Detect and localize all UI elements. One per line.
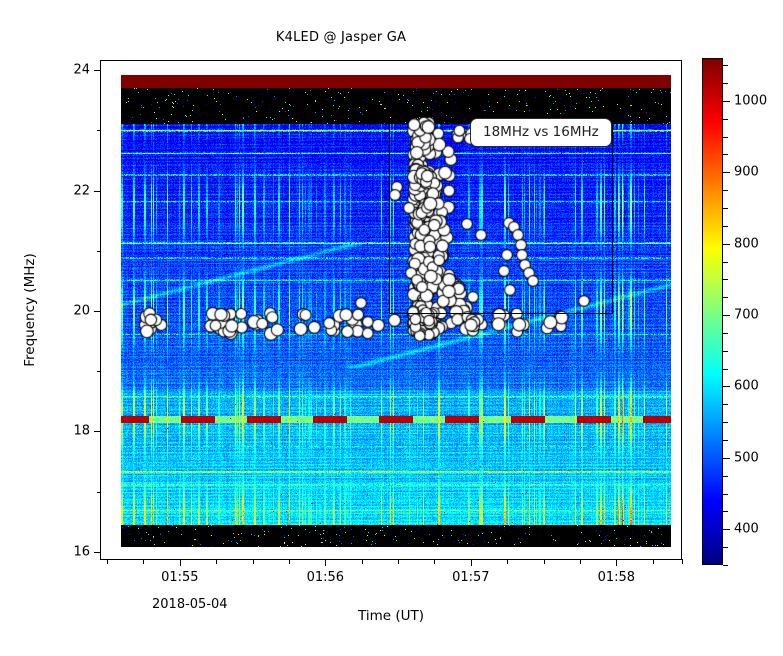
colorbar-tick-minor [723, 190, 728, 191]
colorbar-tick-minor [723, 279, 728, 280]
y-tick-20 [94, 311, 101, 312]
annotation-label: 18MHz vs 16MHz [470, 118, 612, 147]
y-tick-minor [97, 492, 102, 493]
colorbar-tick-500 [723, 458, 730, 459]
colorbar-tick-minor [723, 369, 728, 370]
colorbar-tick-minor [723, 547, 728, 548]
colorbar-tick-900 [723, 172, 730, 173]
colorbar-tick-label-500: 500 [734, 450, 759, 465]
x-tick-label-01:57: 01:57 [452, 570, 489, 585]
colorbar: 1000900800700600500400 [702, 58, 723, 565]
x-tick-minor [289, 559, 290, 564]
spectrogram-figure: K4LED @ Jasper GA 18MHz vs 16MHz 2422201… [0, 0, 783, 656]
y-tick-minor [97, 251, 102, 252]
x-tick-minor [362, 559, 363, 564]
x-tick-minor [253, 559, 254, 564]
y-tick-22 [94, 191, 101, 192]
colorbar-tick-minor [723, 351, 728, 352]
colorbar-tick-minor [723, 297, 728, 298]
colorbar-tick-minor [723, 511, 728, 512]
x-tick-01:57 [471, 559, 472, 566]
colorbar-gradient [702, 58, 723, 565]
x-tick-minor [216, 559, 217, 564]
x-tick-minor [653, 559, 654, 564]
colorbar-tick-minor [723, 226, 728, 227]
colorbar-tick-label-900: 900 [734, 165, 759, 180]
colorbar-tick-minor [723, 422, 728, 423]
y-tick-minor [97, 130, 102, 131]
x-tick-minor [580, 559, 581, 564]
colorbar-tick-minor [723, 65, 728, 66]
y-tick-label-22: 22 [73, 183, 90, 198]
colorbar-tick-minor [723, 137, 728, 138]
colorbar-tick-minor [723, 476, 728, 477]
colorbar-tick-minor [723, 333, 728, 334]
colorbar-tick-400 [723, 529, 730, 530]
x-tick-01:55 [180, 559, 181, 566]
colorbar-tick-minor [723, 440, 728, 441]
x-tick-label-01:58: 01:58 [598, 570, 635, 585]
x-tick-minor [107, 559, 108, 564]
x-tick-minor [682, 559, 683, 564]
colorbar-tick-1000 [723, 101, 730, 102]
y-tick-24 [94, 70, 101, 71]
colorbar-tick-minor [723, 83, 728, 84]
page-title: K4LED @ Jasper GA [0, 30, 682, 45]
colorbar-tick-label-700: 700 [734, 308, 759, 323]
y-tick-label-20: 20 [73, 304, 90, 319]
x-tick-minor [544, 559, 545, 564]
colorbar-tick-minor [723, 119, 728, 120]
x-tick-label-01:56: 01:56 [307, 570, 344, 585]
y-tick-18 [94, 431, 101, 432]
y-tick-label-24: 24 [73, 63, 90, 78]
y-tick-label-18: 18 [73, 424, 90, 439]
y-tick-16 [94, 552, 101, 553]
x-tick-minor [507, 559, 508, 564]
colorbar-tick-label-800: 800 [734, 236, 759, 251]
x-tick-01:56 [325, 559, 326, 566]
colorbar-tick-minor [723, 154, 728, 155]
x-tick-minor [398, 559, 399, 564]
colorbar-tick-700 [723, 315, 730, 316]
colorbar-tick-minor [723, 404, 728, 405]
y-tick-label-16: 16 [73, 544, 90, 559]
x-tick-01:58 [616, 559, 617, 566]
main-axes: 18MHz vs 16MHz 2422201816 01:5501:5601:5… [100, 60, 682, 560]
colorbar-tick-minor [723, 494, 728, 495]
colorbar-tick-minor [723, 565, 728, 566]
colorbar-tick-minor [723, 262, 728, 263]
colorbar-tick-800 [723, 244, 730, 245]
y-axis-label: Frequency (MHz) [22, 253, 38, 366]
x-tick-minor [143, 559, 144, 564]
colorbar-tick-label-600: 600 [734, 379, 759, 394]
x-tick-minor [434, 559, 435, 564]
x-axis-label: Time (UT) [358, 608, 424, 624]
colorbar-tick-minor [723, 208, 728, 209]
x-tick-label-01:55: 01:55 [161, 570, 198, 585]
colorbar-tick-600 [723, 386, 730, 387]
colorbar-tick-label-400: 400 [734, 522, 759, 537]
colorbar-tick-label-1000: 1000 [734, 93, 767, 108]
y-tick-minor [97, 371, 102, 372]
date-label: 2018-05-04 [152, 597, 228, 612]
